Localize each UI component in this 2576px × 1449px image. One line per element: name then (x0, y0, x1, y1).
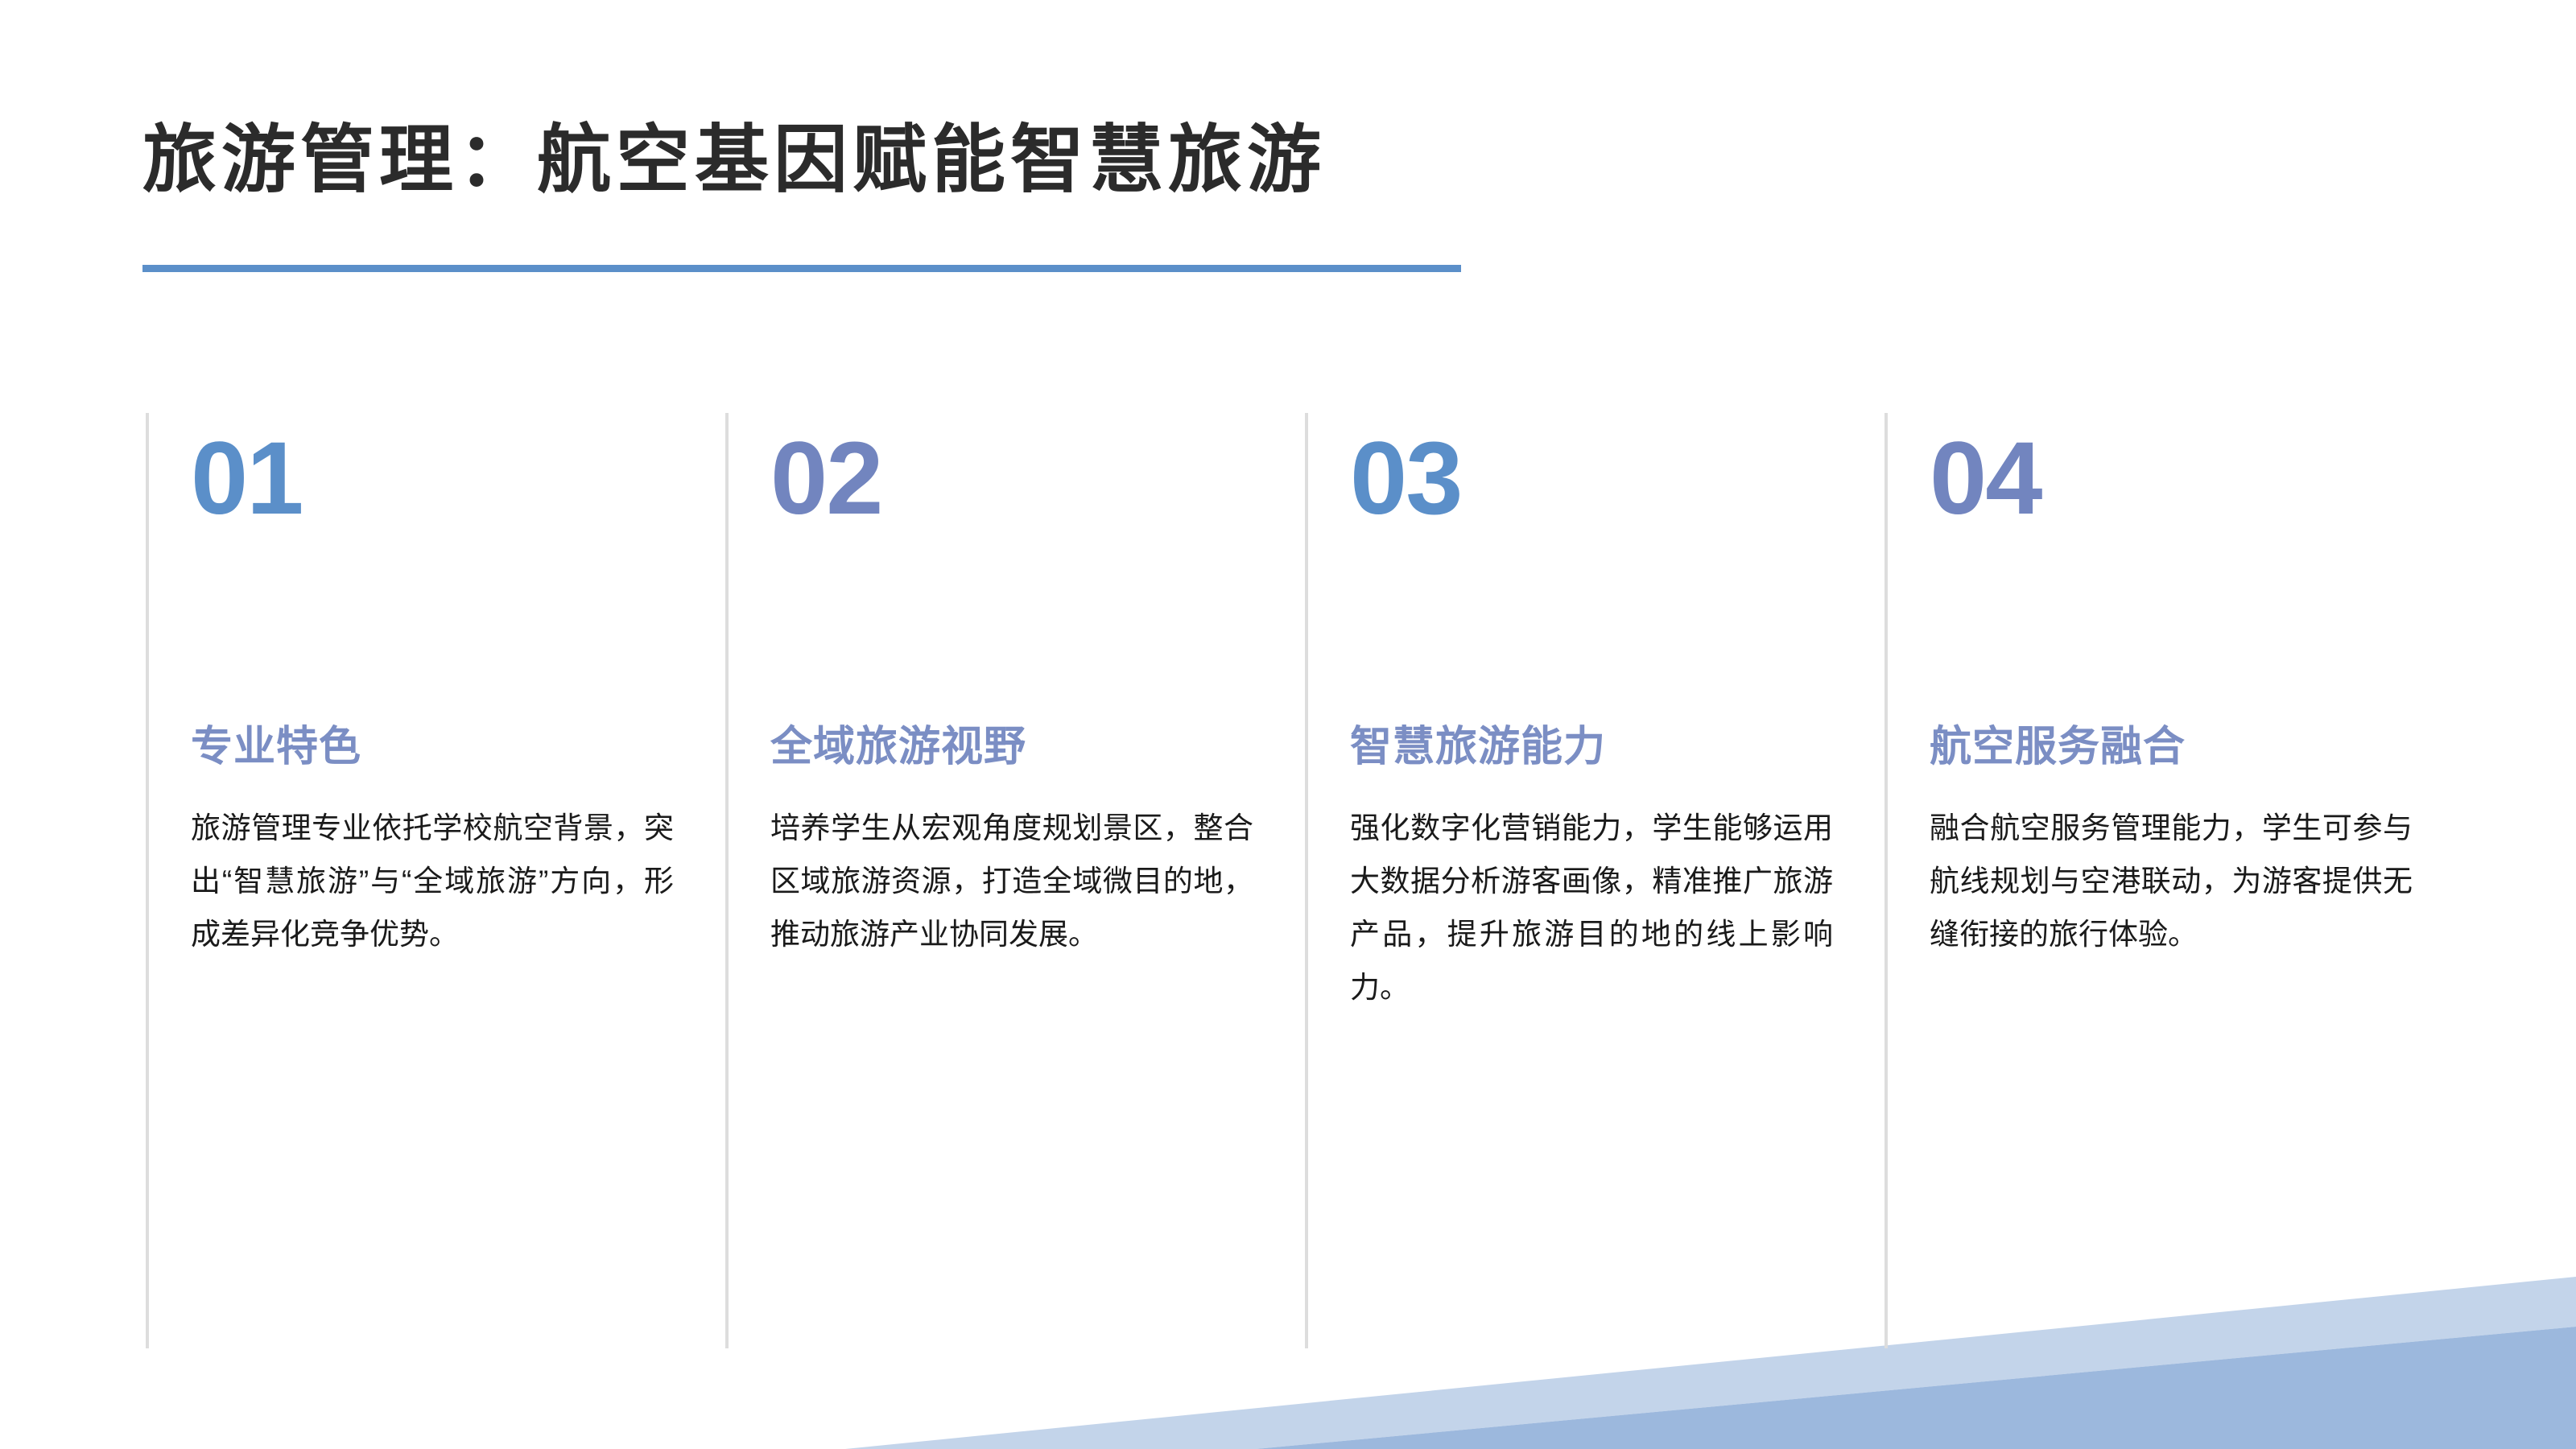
title-block: 旅游管理：航空基因赋能智慧旅游 (142, 121, 2477, 200)
feature-column-02: 02 全域旅游视野 培养学生从宏观角度规划景区，整合区域旅游资源，打造全域微目的… (725, 413, 1305, 1348)
page-title: 旅游管理：航空基因赋能智慧旅游 (142, 121, 2477, 200)
column-body-02: 培养学生从宏观角度规划景区，整合区域旅游资源，打造全域微目的地，推动旅游产业协同… (770, 802, 1253, 961)
feature-columns: 01 专业特色 旅游管理专业依托学校航空背景，突出“智慧旅游”与“全域旅游”方向… (146, 413, 2464, 1348)
column-number-03: 03 (1350, 427, 1852, 530)
feature-column-01: 01 专业特色 旅游管理专业依托学校航空背景，突出“智慧旅游”与“全域旅游”方向… (146, 413, 725, 1348)
feature-column-03: 03 智慧旅游能力 强化数字化营销能力，学生能够运用大数据分析游客画像，精准推广… (1305, 413, 1885, 1348)
column-heading-04: 航空服务融合 (1930, 722, 2186, 772)
column-body-04: 融合航空服务管理能力，学生可参与航线规划与空港联动，为游客提供无缝衔接的旅行体验… (1930, 802, 2413, 961)
column-heading-03: 智慧旅游能力 (1350, 722, 1606, 772)
column-number-02: 02 (770, 427, 1273, 530)
feature-column-04: 04 航空服务融合 融合航空服务管理能力，学生可参与航线规划与空港联动，为游客提… (1885, 413, 2464, 1348)
column-number-04: 04 (1930, 427, 2432, 530)
column-heading-02: 全域旅游视野 (770, 722, 1026, 772)
title-underline-rule (142, 265, 1461, 272)
column-number-01: 01 (191, 427, 693, 530)
slide-canvas: 旅游管理：航空基因赋能智慧旅游 01 专业特色 旅游管理专业依托学校航空背景，突… (0, 0, 2576, 1449)
column-heading-01: 专业特色 (191, 722, 361, 772)
column-body-03: 强化数字化营销能力，学生能够运用大数据分析游客画像，精准推广旅游产品，提升旅游目… (1350, 802, 1833, 1013)
column-body-01: 旅游管理专业依托学校航空背景，突出“智慧旅游”与“全域旅游”方向，形成差异化竞争… (191, 802, 674, 961)
